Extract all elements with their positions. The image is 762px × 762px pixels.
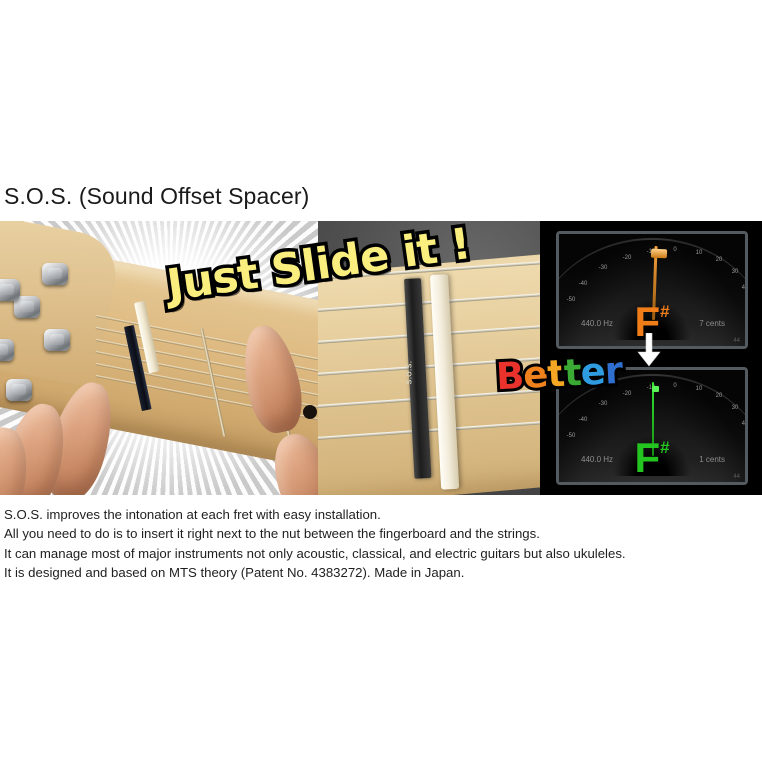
down-arrow-icon	[636, 333, 662, 367]
frequency-label: 440.0 Hz	[581, 319, 613, 328]
page-title: S.O.S. (Sound Offset Spacer)	[4, 183, 309, 210]
description-line: It is designed and based on MTS theory (…	[4, 563, 756, 582]
scale-tick: 40	[742, 285, 748, 291]
better-letter: e	[522, 353, 548, 397]
scale-tick: 40	[742, 421, 748, 427]
tuning-peg	[0, 279, 20, 301]
scale-tick: -50	[567, 297, 576, 303]
scale-tick: 30	[732, 405, 739, 411]
scale-tick: 20	[716, 257, 723, 263]
scale-tick: -40	[579, 281, 588, 287]
scale-tick: 10	[696, 250, 703, 256]
fret-inlay-dot	[303, 405, 317, 419]
frequency-label: 440.0 Hz	[581, 455, 613, 464]
scale-tick: 0	[673, 247, 676, 253]
tuning-peg	[6, 379, 32, 401]
scale-tick: -40	[579, 417, 588, 423]
scale-tick: -50	[567, 433, 576, 439]
scale-tick: -30	[599, 265, 608, 271]
corner-mark: 44	[733, 338, 740, 344]
cents-label: 1 cents	[699, 455, 725, 464]
needle-tip-marker	[652, 386, 659, 392]
tuning-peg	[44, 329, 70, 351]
scale-tick: -30	[599, 401, 608, 407]
note-letter: F	[634, 434, 660, 481]
product-description: S.O.S. improves the intonation at each f…	[4, 505, 756, 583]
corner-mark: 44	[733, 474, 740, 480]
tuning-peg	[0, 339, 14, 361]
scale-tick: 30	[732, 269, 739, 275]
scale-tick: 0	[673, 383, 676, 389]
scale-tick: -20	[623, 391, 632, 397]
better-letter: B	[495, 354, 524, 398]
description-line: All you need to do is to insert it right…	[4, 524, 756, 543]
tuner-before: -50 -40 -30 -20 -10 0 10 20 30 40 50 440…	[556, 231, 748, 349]
cents-label: 7 cents	[699, 319, 725, 328]
better-headline: Better	[495, 349, 623, 399]
needle-tip-marker	[651, 249, 667, 259]
note-display: F#	[634, 438, 669, 478]
better-letter: e	[580, 350, 606, 394]
scale-tick: -20	[623, 255, 632, 261]
note-accidental: #	[660, 438, 669, 457]
note-accidental: #	[660, 302, 669, 321]
description-line: S.O.S. improves the intonation at each f…	[4, 505, 756, 524]
tuning-peg	[42, 263, 68, 285]
scale-tick: 20	[716, 393, 723, 399]
better-letter: r	[604, 349, 623, 393]
scale-tick: 10	[696, 386, 703, 392]
description-line: It can manage most of major instruments …	[4, 544, 756, 563]
sos-spacer-label: S.O.S.	[406, 361, 413, 385]
